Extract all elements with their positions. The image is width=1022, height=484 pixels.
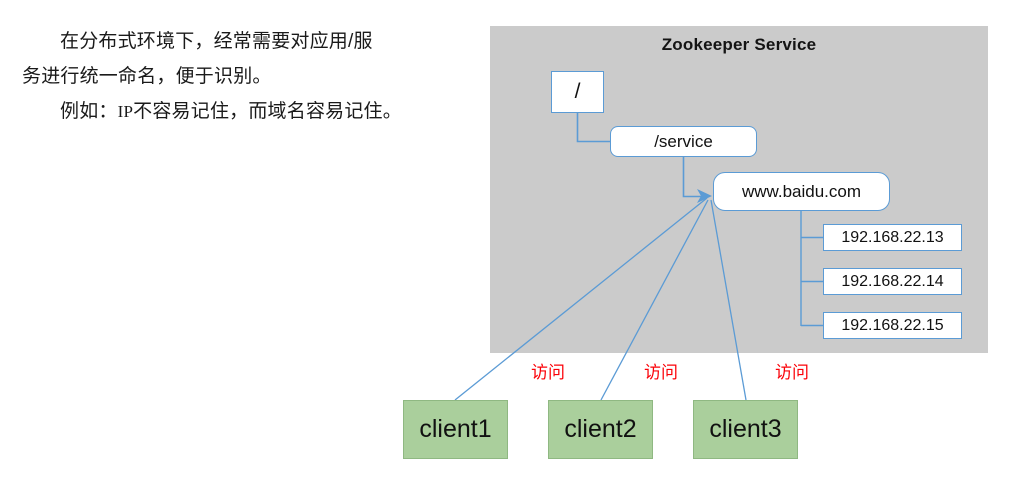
znode-service[interactable]: /service: [610, 126, 757, 157]
text-paragraph-line-2: 务进行统一命名，便于识别。: [22, 59, 472, 94]
access-label-0: 访问: [531, 358, 565, 383]
client-box-2[interactable]: client3: [693, 400, 798, 459]
text-line3-latin: IP: [118, 102, 134, 121]
text-line3-suffix: 不容易记住，而域名容易记住。: [133, 101, 402, 122]
explanatory-text: 在分布式环境下，经常需要对应用/服 务进行统一命名，便于识别。 例如：IP不容易…: [22, 24, 472, 129]
client-box-0[interactable]: client1: [403, 400, 508, 459]
znode-ip-1[interactable]: 192.168.22.14: [823, 268, 962, 295]
panel-title: Zookeeper Service: [490, 35, 988, 55]
client-box-1[interactable]: client2: [548, 400, 653, 459]
znode-root[interactable]: /: [551, 71, 604, 113]
znode-ip-0[interactable]: 192.168.22.13: [823, 224, 962, 251]
znode-ip-2[interactable]: 192.168.22.15: [823, 312, 962, 339]
text-paragraph-line-1: 在分布式环境下，经常需要对应用/服: [22, 24, 472, 59]
slide-canvas: 在分布式环境下，经常需要对应用/服 务进行统一命名，便于识别。 例如：IP不容易…: [0, 0, 1022, 484]
access-label-2: 访问: [775, 358, 809, 383]
text-paragraph-line-3: 例如：IP不容易记住，而域名容易记住。: [22, 94, 472, 129]
znode-domain[interactable]: www.baidu.com: [713, 172, 890, 211]
access-label-1: 访问: [644, 358, 678, 383]
text-line3-prefix: 例如：: [60, 101, 118, 122]
